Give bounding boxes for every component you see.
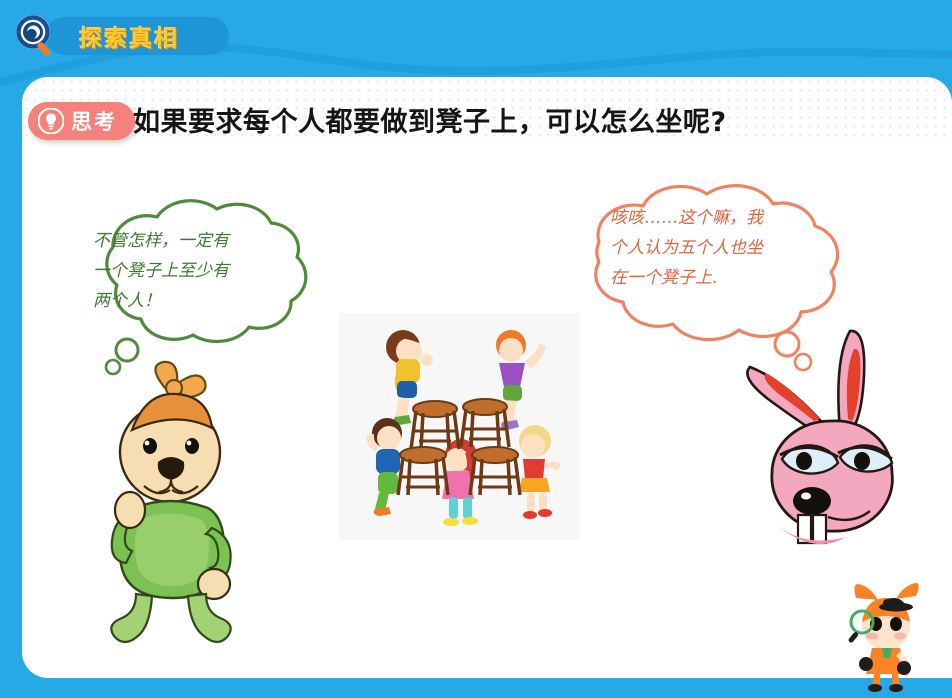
header-title-pill: 探索真相 [45, 17, 229, 55]
thought-bubble-dog-text: 不管怎样，一定有 一个凳子上至少有 两个人！ [93, 227, 308, 316]
slide-root: 探索真相 思考 如果要求每个人都要做到凳子上，可以怎么坐呢? 不管怎样，一定有 … [0, 0, 952, 698]
green-dog-character [72, 358, 272, 658]
thought-bubble-rabbit-text: 咳咳……这个嘛，我 个人认为五个人也坐 在一个凳子上. [610, 204, 865, 293]
header-title-text: 探索真相 [79, 19, 179, 53]
fox-detective-mascot [838, 582, 934, 692]
magnifier-icon [12, 12, 60, 60]
think-badge-label: 思考 [71, 106, 117, 136]
page-title: 如果要求每个人都要做到凳子上，可以怎么坐呢? [133, 100, 727, 139]
pink-rabbit-character [736, 325, 936, 565]
dog-bow [155, 362, 205, 398]
think-badge: 思考 [28, 102, 135, 140]
musical-chairs-illustration [339, 313, 579, 540]
lightbulb-icon [38, 108, 64, 134]
